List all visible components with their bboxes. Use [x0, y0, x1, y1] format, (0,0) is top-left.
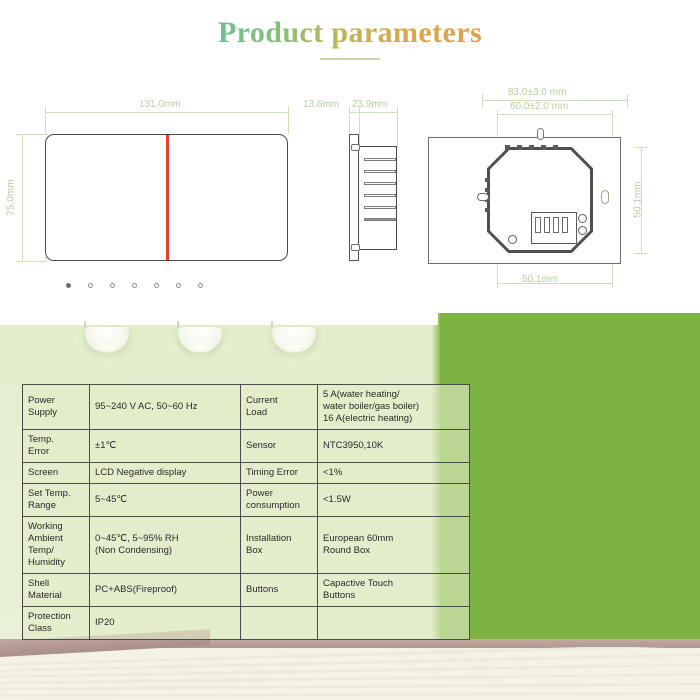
table-row: Working Ambient Temp/ Humidity 0~45℃, 5~…: [23, 516, 470, 573]
spec-label: Screen: [23, 462, 90, 483]
spec-label: Timing Error: [241, 462, 318, 483]
back-inner-tick-right: [612, 110, 613, 138]
front-height-tick-top: [16, 134, 47, 135]
side-back-dimline: [359, 112, 397, 113]
terminal-pin: [544, 217, 550, 233]
specification-table: Power Supply 95~240 V AC, 50~60 Hz Curre…: [22, 384, 470, 640]
back-notch: [529, 145, 534, 150]
day-dot: [110, 283, 115, 288]
spec-value: 95~240 V AC, 50~60 Hz: [90, 385, 241, 430]
spec-value: 0~45℃, 5~95% RH (Non Condensing): [90, 516, 241, 573]
wall-right: [438, 313, 700, 647]
back-notch: [517, 145, 522, 150]
spec-value: IP20: [90, 606, 241, 639]
product-parameters-page: Product parameters 131.0mm 75.0mm: [0, 0, 700, 700]
table-row: Protection Class IP20: [23, 606, 470, 639]
spec-label: Power consumption: [241, 483, 318, 516]
side-tick-1: [349, 106, 350, 136]
terminal-pin: [553, 217, 559, 233]
back-outer-tick-right: [627, 94, 628, 108]
back-height-tick-bottom: [634, 253, 648, 254]
side-tick-3: [397, 106, 398, 148]
spec-label: Current Load: [241, 385, 318, 430]
spec-label: Set Temp. Range: [23, 483, 90, 516]
thermostat-accent-stripe: [166, 135, 169, 260]
lamp-cord: [271, 321, 273, 328]
day-dot: [132, 283, 137, 288]
front-height-dimline: [22, 134, 23, 261]
specification-table-body: Power Supply 95~240 V AC, 50~60 Hz Curre…: [23, 385, 470, 640]
back-bottom-tick-right: [612, 264, 613, 288]
front-height-label: 75.0mm: [6, 179, 17, 215]
spec-label: Shell Material: [23, 573, 90, 606]
page-title-container: Product parameters: [0, 16, 700, 50]
side-fin: [364, 158, 396, 161]
table-row: Power Supply 95~240 V AC, 50~60 Hz Curre…: [23, 385, 470, 430]
side-housing: [358, 146, 397, 250]
side-depth-front-label: 13.6mm: [303, 99, 339, 110]
side-fin: [364, 182, 396, 185]
back-inner-dimline: [497, 114, 612, 115]
lamp-glow: [278, 345, 310, 357]
spec-label: Protection Class: [23, 606, 90, 639]
back-outer-tick-left: [482, 94, 483, 108]
spec-value: Capactive Touch Buttons: [318, 573, 470, 606]
back-height-label: 50.1mm: [633, 181, 644, 217]
spec-value: European 60mm Round Box: [318, 516, 470, 573]
terminal-screw-hole: [578, 226, 587, 235]
front-width-label: 131.0mm: [139, 99, 181, 110]
spec-label: Buttons: [241, 573, 318, 606]
day-dot: [66, 283, 71, 288]
front-width-dimline: [45, 112, 288, 113]
back-left-tab: [477, 193, 489, 201]
spec-value: PC+ABS(Fireproof): [90, 573, 241, 606]
spec-value: LCD Negative display: [90, 462, 241, 483]
back-notch: [485, 178, 490, 182]
side-fin: [364, 218, 396, 221]
side-fin: [364, 170, 396, 173]
page-title: Product parameters: [218, 16, 482, 50]
back-top-slot: [537, 128, 544, 140]
back-inner-width-label: 60.0±2.0 mm: [510, 101, 568, 112]
back-inner-tick-left: [497, 110, 498, 138]
back-notch: [485, 208, 490, 212]
back-notch: [553, 145, 558, 150]
side-clip-top: [351, 144, 360, 151]
back-notch: [485, 188, 490, 192]
spec-value: <1.5W: [318, 483, 470, 516]
back-height-tick-top: [634, 147, 648, 148]
day-dot: [154, 283, 159, 288]
front-height-tick-bottom: [16, 261, 47, 262]
lamp-cord: [177, 321, 179, 328]
spec-label: Installation Box: [241, 516, 318, 573]
table-row: Shell Material PC+ABS(Fireproof) Buttons…: [23, 573, 470, 606]
side-clip-bottom: [351, 244, 360, 251]
side-front-dimline: [349, 112, 359, 113]
spec-label: [241, 606, 318, 639]
front-width-tick-left: [45, 106, 46, 134]
spec-value: [318, 606, 470, 639]
terminal-pin: [535, 217, 541, 233]
lamp-glow: [184, 345, 216, 357]
spec-label: Sensor: [241, 429, 318, 462]
floor-stripes: [0, 647, 700, 700]
side-fin: [364, 194, 396, 197]
back-notch: [541, 145, 546, 150]
back-right-slot: [601, 190, 609, 204]
mounting-hole: [508, 235, 517, 244]
table-row: Screen LCD Negative display Timing Error…: [23, 462, 470, 483]
lamp-cord: [84, 321, 86, 328]
day-dot: [176, 283, 181, 288]
title-divider: [320, 58, 380, 60]
spec-label: Power Supply: [23, 385, 90, 430]
spec-value: 5 A(water heating/ water boiler/gas boil…: [318, 385, 470, 430]
ceiling: [0, 313, 438, 325]
day-dot: [88, 283, 93, 288]
table-row: Set Temp. Range 5~45℃ Power consumption …: [23, 483, 470, 516]
table-row: Temp. Error ±1℃ Sensor NTC3950,10K: [23, 429, 470, 462]
side-fin: [364, 206, 396, 209]
back-notch: [505, 145, 510, 150]
day-dot: [198, 283, 203, 288]
technical-drawings: 131.0mm 75.0mm: [0, 78, 700, 313]
day-indicator-dots: [66, 283, 203, 288]
side-depth-back-label: 23.9mm: [352, 99, 388, 110]
spec-value: NTC3950,10K: [318, 429, 470, 462]
front-width-tick-right: [288, 106, 289, 134]
spec-value: ±1℃: [90, 429, 241, 462]
spec-label: Temp. Error: [23, 429, 90, 462]
lamp-glow: [91, 345, 123, 357]
spec-value: <1%: [318, 462, 470, 483]
spec-value: 5~45℃: [90, 483, 241, 516]
spec-label: Working Ambient Temp/ Humidity: [23, 516, 90, 573]
terminal-pin: [562, 217, 568, 233]
terminal-screw-hole: [578, 214, 587, 223]
back-bottom-tick-left: [497, 264, 498, 288]
back-bottom-width-label: 50.1mm: [522, 274, 558, 285]
back-outer-width-label: 83.0±3.0 mm: [508, 87, 566, 98]
